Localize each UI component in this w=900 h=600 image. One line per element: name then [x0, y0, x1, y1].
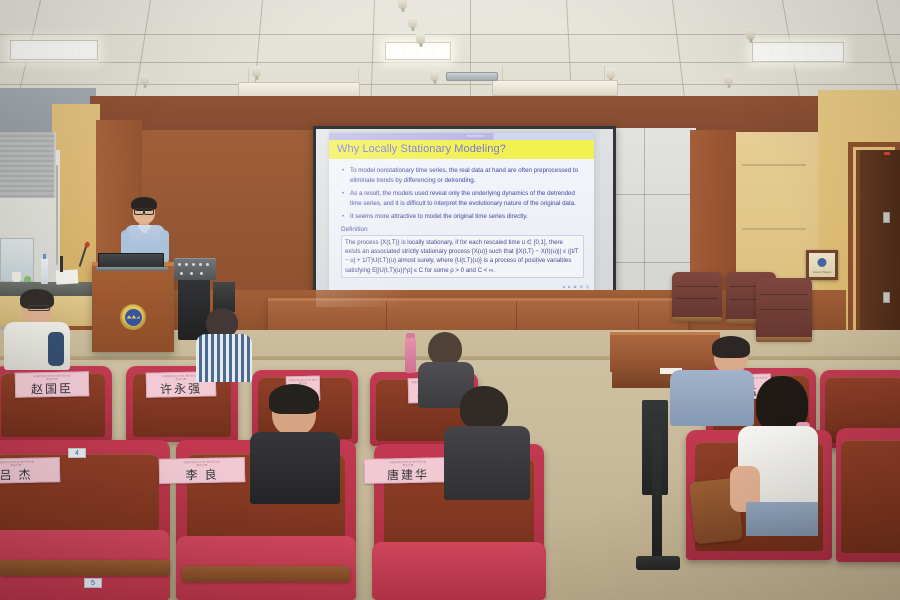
seat-number-5: 5	[84, 578, 102, 588]
speaker-stand	[652, 430, 662, 560]
door-plate-lower	[883, 292, 890, 303]
paper-cup[interactable]	[12, 272, 21, 282]
shelf-line	[742, 228, 806, 230]
glasses-icon	[134, 208, 154, 213]
glasses-icon	[28, 305, 50, 311]
window-blinds	[0, 132, 56, 198]
armrest-1	[0, 560, 170, 576]
sprinkler-icon	[416, 33, 425, 44]
ceiling-light-left	[10, 40, 98, 60]
person-hair	[712, 336, 750, 358]
slide-footer-nav: ◀ ▶ ▣ ▤ ▥	[562, 285, 590, 289]
door-plate-upper	[883, 212, 890, 223]
university-crest-icon	[120, 304, 146, 330]
person-torso	[196, 334, 252, 382]
sprinkler-icon	[606, 68, 615, 79]
slide-breadcrumb: Motivation	[467, 134, 484, 138]
person-arm	[48, 332, 64, 366]
namecard-tang: 中国科学技术大学 统计研讨会 参会代表 唐建华	[364, 457, 452, 484]
namecard-li: 中国科学技术大学 统计研讨会 参会代表 李 良	[159, 457, 245, 484]
water-bottle[interactable]	[41, 258, 48, 284]
microphone-stand	[60, 256, 63, 272]
seat-row1-right-2[interactable]	[836, 428, 900, 562]
laptop[interactable]	[98, 253, 164, 269]
hanging-lamp-right	[492, 80, 618, 96]
seat-cushion-3[interactable]	[372, 542, 546, 600]
slide-title: Why Locally Stationary Modeling?	[329, 140, 594, 159]
person-jeans	[746, 502, 818, 536]
namecard-name: 唐建华	[366, 468, 450, 482]
person-torso	[444, 426, 530, 500]
sprinkler-icon	[724, 74, 733, 85]
person-hair	[460, 386, 508, 430]
namecard-zhao: 中国科学技术大学 统计研讨会 参会代表 赵国臣	[15, 371, 90, 397]
shelf-line	[742, 164, 806, 166]
plaque-seal-icon	[818, 258, 827, 267]
seat-number-4: 4	[68, 448, 86, 458]
slide-bullet: To model nonstationary time series, the …	[341, 166, 584, 186]
namecard-name: 赵国臣	[17, 382, 87, 395]
sprinkler-icon	[252, 66, 261, 77]
green-cup[interactable]	[24, 276, 31, 282]
podium	[92, 262, 174, 352]
speaker-stand-base	[636, 556, 680, 570]
thermos-bottle[interactable]	[405, 337, 416, 373]
presentation-slide: Motivation Why Locally Stationary Modeli…	[329, 133, 594, 291]
audio-mixer[interactable]	[174, 258, 216, 280]
sprinkler-icon	[430, 70, 439, 81]
exit-indicator-light	[884, 152, 890, 155]
ceiling	[0, 0, 900, 108]
person-torso	[670, 370, 754, 426]
sprinkler-icon	[746, 29, 755, 40]
slide-bullet: It seems more attractive to model the or…	[341, 212, 584, 222]
sprinkler-icon	[140, 74, 149, 85]
definition-heading: Definition	[341, 226, 584, 233]
plaque-text: Award Plaque	[809, 270, 835, 274]
air-vent	[446, 72, 498, 81]
leather-chair-3[interactable]	[756, 278, 812, 340]
sprinkler-icon	[398, 0, 407, 9]
sprinkler-icon	[408, 17, 417, 28]
namecard-name: 李 良	[161, 468, 243, 482]
projection-screen: Motivation Why Locally Stationary Modeli…	[313, 126, 616, 310]
namecard-name: 吕 杰	[0, 468, 58, 482]
ceiling-light-right	[752, 42, 844, 62]
definition-body: The process {X(t,T)} is locally stationa…	[341, 235, 584, 278]
slide-bullet-list: To model nonstationary time series, the …	[341, 166, 584, 222]
person-torso	[250, 432, 340, 504]
namecard-name: 许永强	[148, 382, 214, 395]
slide-bullet: As a result, the models used reveal only…	[341, 189, 584, 209]
armrest-2	[182, 566, 350, 582]
framed-plaque: Award Plaque	[806, 250, 838, 280]
slide-body: To model nonstationary time series, the …	[329, 159, 594, 282]
person-hair	[428, 332, 462, 366]
ceiling-light-center	[385, 42, 451, 60]
slide-navbar: Motivation	[329, 133, 594, 140]
person-hair	[269, 384, 319, 414]
leather-chair-1[interactable]	[672, 272, 722, 320]
av-equipment-rack	[178, 278, 210, 340]
lecture-hall-photo: Award Plaque Motivation Why Locally Stat…	[0, 0, 900, 600]
blind-cord	[56, 165, 58, 265]
namecard-lv: 中国科学技术大学 统计研讨会 参会代表 吕 杰	[0, 457, 60, 484]
